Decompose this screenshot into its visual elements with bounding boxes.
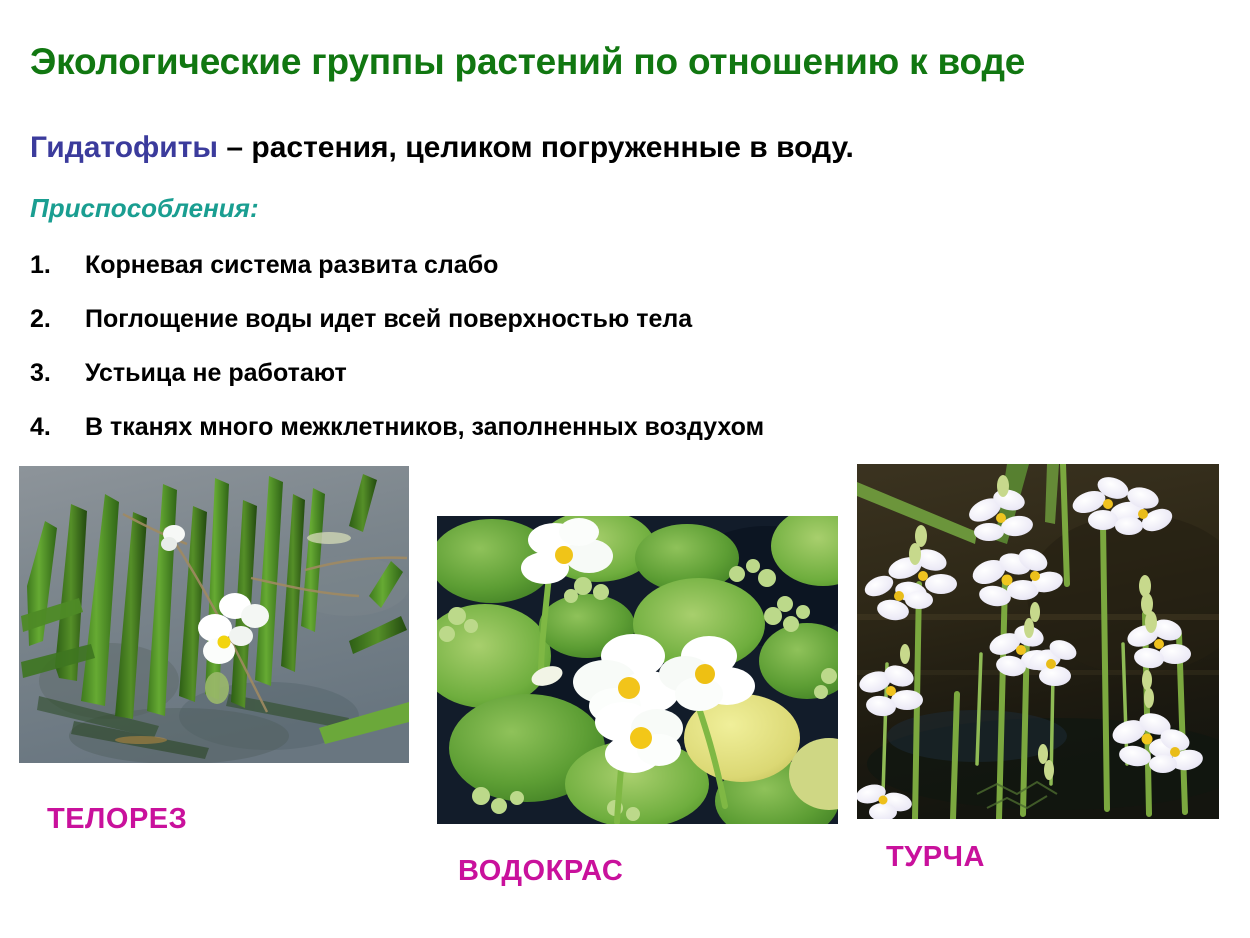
photo-turcha [857, 464, 1219, 819]
photo-telorez-artwork [19, 466, 409, 763]
adaptations-heading: Приспособления: [30, 193, 259, 224]
list-item: 4. В тканях много межклетников, заполнен… [30, 410, 1030, 464]
list-item-number: 2. [30, 302, 74, 336]
photo-telorez [19, 466, 409, 763]
list-item-number: 1. [30, 248, 74, 282]
photo-vodokras-artwork [437, 516, 838, 824]
list-item-label: Корневая система развита слабо [85, 248, 498, 282]
caption-vodokras: ВОДОКРАС [458, 855, 623, 888]
photo-turcha-artwork [857, 464, 1219, 819]
definition-rest: – растения, целиком погруженные в воду. [218, 131, 854, 164]
adaptations-list: 1. Корневая система развита слабо 2. Пог… [30, 248, 1030, 464]
definition-line: Гидатофиты – растения, целиком погруженн… [30, 131, 854, 165]
caption-telorez: ТЕЛОРЕЗ [47, 803, 187, 836]
list-item-label: В тканях много межклетников, заполненных… [85, 410, 764, 444]
list-item: 3. Устьица не работают [30, 356, 1030, 410]
list-item-number: 4. [30, 410, 74, 444]
list-item: 1. Корневая система развита слабо [30, 248, 1030, 302]
photo-vodokras [437, 516, 838, 824]
slide-canvas: Экологические группы растений по отношен… [0, 0, 1250, 938]
list-item-number: 3. [30, 356, 74, 390]
list-item: 2. Поглощение воды идет всей поверхность… [30, 302, 1030, 356]
caption-turcha: ТУРЧА [886, 841, 985, 874]
list-item-label: Устьица не работают [85, 356, 347, 390]
list-item-label: Поглощение воды идет всей поверхностью т… [85, 302, 692, 336]
page-title: Экологические группы растений по отношен… [30, 41, 1220, 83]
definition-term: Гидатофиты [30, 131, 218, 164]
